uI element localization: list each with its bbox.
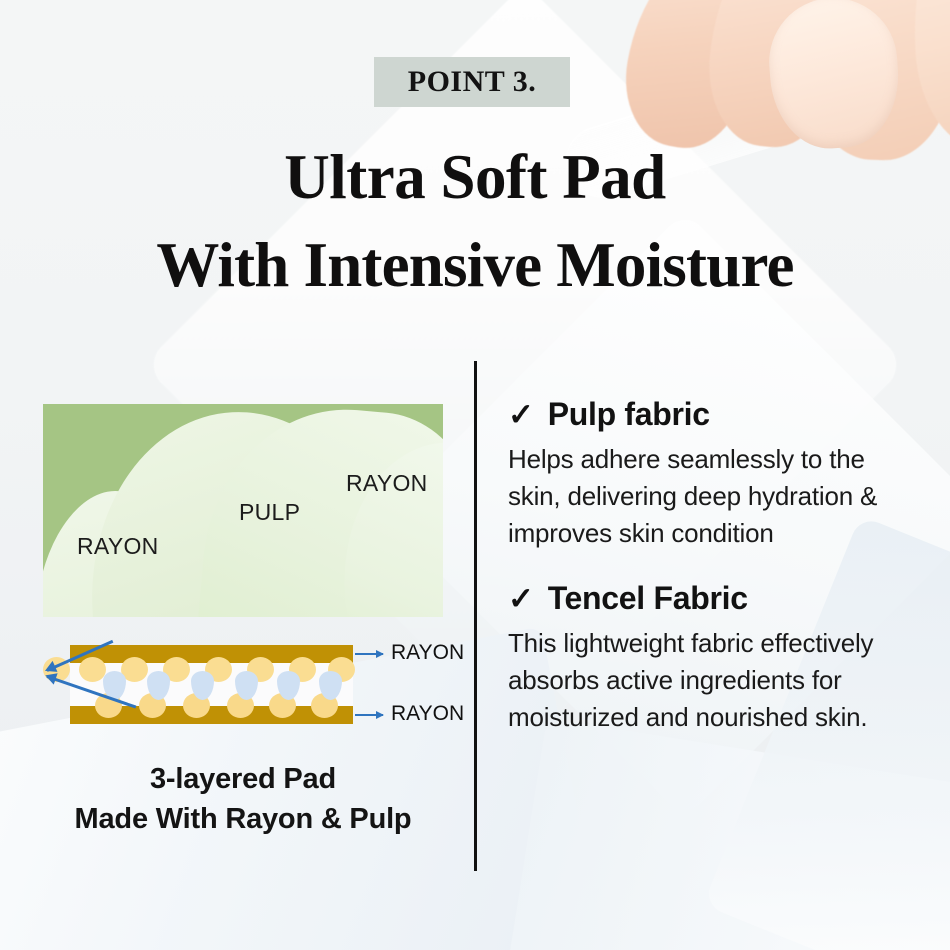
feature-description: This lightweight fabric effectively abso… bbox=[508, 625, 908, 736]
thumbnail-icon bbox=[765, 0, 903, 152]
feature-description: Helps adhere seamlessly to the skin, del… bbox=[508, 441, 908, 552]
fabric-label-pulp: PULP bbox=[239, 499, 300, 526]
point-badge: POINT 3. bbox=[374, 57, 570, 107]
left-caption-line-1: 3-layered Pad bbox=[43, 759, 443, 799]
page-title: Ultra Soft Pad With Intensive Moisture bbox=[0, 133, 950, 309]
left-column: RAYON PULP RAYON bbox=[43, 404, 443, 839]
left-caption-line-2: Made With Rayon & Pulp bbox=[43, 799, 443, 839]
rayon-callout-arrow-top bbox=[355, 653, 383, 655]
product-detail-page: POINT 3. Ultra Soft Pad With Intensive M… bbox=[0, 0, 950, 950]
check-icon: ✓ bbox=[508, 399, 534, 430]
fabric-label-rayon-left: RAYON bbox=[77, 533, 159, 560]
rayon-callout-arrow-bottom bbox=[355, 714, 383, 716]
fabric-label-rayon-right: RAYON bbox=[346, 470, 428, 497]
pad-cross-section-diagram: RAYON RAYON bbox=[43, 635, 443, 743]
check-icon: ✓ bbox=[508, 583, 534, 614]
feature-pulp-fabric: ✓ Pulp fabric Helps adhere seamlessly to… bbox=[508, 396, 908, 552]
cross-section-label-top: RAYON bbox=[391, 641, 464, 665]
fabric-illustration-panel: RAYON PULP RAYON bbox=[43, 404, 443, 617]
feature-title: Tencel Fabric bbox=[548, 580, 748, 617]
finger-4 bbox=[907, 0, 950, 152]
cross-section-label-bottom: RAYON bbox=[391, 702, 464, 726]
feature-title: Pulp fabric bbox=[548, 396, 710, 433]
pulp-pellet bbox=[79, 657, 106, 682]
column-divider bbox=[474, 361, 477, 871]
left-caption: 3-layered Pad Made With Rayon & Pulp bbox=[43, 759, 443, 839]
point-badge-label: POINT 3. bbox=[408, 65, 536, 99]
feature-tencel-fabric: ✓ Tencel Fabric This lightweight fabric … bbox=[508, 580, 908, 736]
feature-heading: ✓ Tencel Fabric bbox=[508, 580, 908, 617]
page-title-line-2: With Intensive Moisture bbox=[0, 221, 950, 309]
right-column: ✓ Pulp fabric Helps adhere seamlessly to… bbox=[508, 396, 908, 764]
finger-2 bbox=[701, 0, 851, 153]
page-title-line-1: Ultra Soft Pad bbox=[0, 133, 950, 221]
feature-heading: ✓ Pulp fabric bbox=[508, 396, 908, 433]
